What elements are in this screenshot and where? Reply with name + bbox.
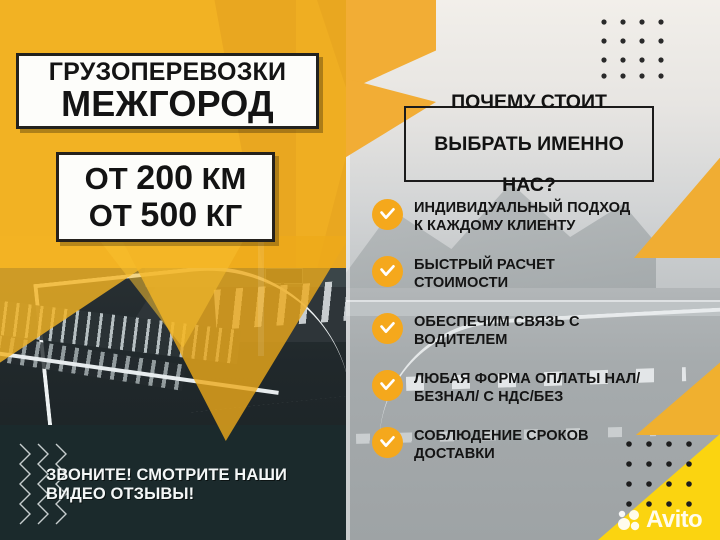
distance-prefix: ОТ — [85, 161, 137, 196]
weight-unit: КГ — [197, 198, 242, 233]
avito-wordmark: Avito — [646, 508, 702, 532]
left-panel: ГРУЗОПЕРЕВОЗКИ МЕЖГОРОД ОТ 200 КМ ОТ 500… — [0, 0, 346, 540]
minimums-box: ОТ 200 КМ ОТ 500 КГ — [56, 152, 275, 242]
bullet-1-line-1: ИНДИВИДУАЛЬНЫЙ ПОДХОД — [414, 200, 630, 216]
title-line-1: ГРУЗОПЕРЕВОЗКИ — [49, 60, 286, 85]
check-circle-icon — [372, 313, 403, 344]
benefits-heading: ПОЧЕМУ СТОИТ ВЫБРАТЬ ИМЕННО НАС? — [434, 92, 624, 196]
list-item: ИНДИВИДУАЛЬНЫЙ ПОДХОД К КАЖДОМУ КЛИЕНТУ — [372, 196, 720, 240]
cta-line-2: ВИДЕО ОТЗЫВЫ! — [46, 485, 336, 504]
distance-line: ОТ 200 КМ — [85, 160, 247, 197]
weight-line: ОТ 500 КГ — [89, 197, 243, 234]
check-circle-icon — [372, 256, 403, 287]
dot-grid-top-right — [600, 18, 666, 80]
advertisement-banner: ГРУЗОПЕРЕВОЗКИ МЕЖГОРОД ОТ 200 КМ ОТ 500… — [0, 0, 720, 540]
avito-watermark: Avito — [618, 505, 714, 535]
list-item-text: СОБЛЮДЕНИЕ СРОКОВ ДОСТАВКИ — [414, 424, 589, 463]
bullet-4-line-2: БЕЗНАЛ/ С НДС/БЕЗ — [414, 389, 563, 405]
bullet-3-line-1: ОБЕСПЕЧИМ СВЯЗЬ С — [414, 314, 580, 330]
check-circle-icon — [372, 370, 403, 401]
list-item: СОБЛЮДЕНИЕ СРОКОВ ДОСТАВКИ — [372, 424, 720, 468]
check-circle-icon — [372, 199, 403, 230]
bullet-3-line-2: ВОДИТЕЛЕМ — [414, 332, 507, 348]
list-item: БЫСТРЫЙ РАСЧЕТ СТОИМОСТИ — [372, 253, 720, 297]
light-streak — [258, 236, 264, 356]
heading-line-2: ВЫБРАТЬ ИМЕННО — [434, 134, 624, 155]
call-to-action: ЗВОНИТЕ! СМОТРИТЕ НАШИ ВИДЕО ОТЗЫВЫ! — [46, 466, 336, 504]
title-line-2: МЕЖГОРОД — [61, 86, 274, 123]
list-item-text: ОБЕСПЕЧИМ СВЯЗЬ С ВОДИТЕЛЕМ — [414, 310, 580, 349]
list-item: ОБЕСПЕЧИМ СВЯЗЬ С ВОДИТЕЛЕМ — [372, 310, 720, 354]
main-title-box: ГРУЗОПЕРЕВОЗКИ МЕЖГОРОД — [16, 53, 319, 129]
bullet-2-line-1: БЫСТРЫЙ РАСЧЕТ — [414, 257, 555, 273]
check-circle-icon — [372, 427, 403, 458]
benefits-heading-box: ПОЧЕМУ СТОИТ ВЫБРАТЬ ИМЕННО НАС? — [404, 106, 654, 182]
bullet-5-line-1: СОБЛЮДЕНИЕ СРОКОВ — [414, 428, 589, 444]
distance-unit: КМ — [193, 161, 246, 196]
distance-value: 200 — [136, 159, 193, 197]
avito-dots-icon — [618, 509, 644, 531]
heading-line-3: НАС? — [434, 175, 624, 196]
cta-line-1: ЗВОНИТЕ! СМОТРИТЕ НАШИ — [46, 466, 336, 485]
list-item-text: ИНДИВИДУАЛЬНЫЙ ПОДХОД К КАЖДОМУ КЛИЕНТУ — [414, 196, 630, 235]
bullet-4-line-1: ЛЮБАЯ ФОРМА ОПЛАТЫ НАЛ/ — [414, 371, 640, 387]
bullet-1-line-2: К КАЖДОМУ КЛИЕНТУ — [414, 218, 575, 234]
list-item-text: БЫСТРЫЙ РАСЧЕТ СТОИМОСТИ — [414, 253, 555, 292]
bullet-5-line-2: ДОСТАВКИ — [414, 446, 495, 462]
list-item: ЛЮБАЯ ФОРМА ОПЛАТЫ НАЛ/ БЕЗНАЛ/ С НДС/БЕ… — [372, 367, 720, 411]
bullet-2-line-2: СТОИМОСТИ — [414, 275, 508, 291]
benefits-list: ИНДИВИДУАЛЬНЫЙ ПОДХОД К КАЖДОМУ КЛИЕНТУ … — [372, 196, 720, 481]
heading-line-1: ПОЧЕМУ СТОИТ — [434, 92, 624, 113]
list-item-text: ЛЮБАЯ ФОРМА ОПЛАТЫ НАЛ/ БЕЗНАЛ/ С НДС/БЕ… — [414, 367, 640, 406]
weight-value: 500 — [140, 196, 197, 234]
weight-prefix: ОТ — [89, 198, 141, 233]
